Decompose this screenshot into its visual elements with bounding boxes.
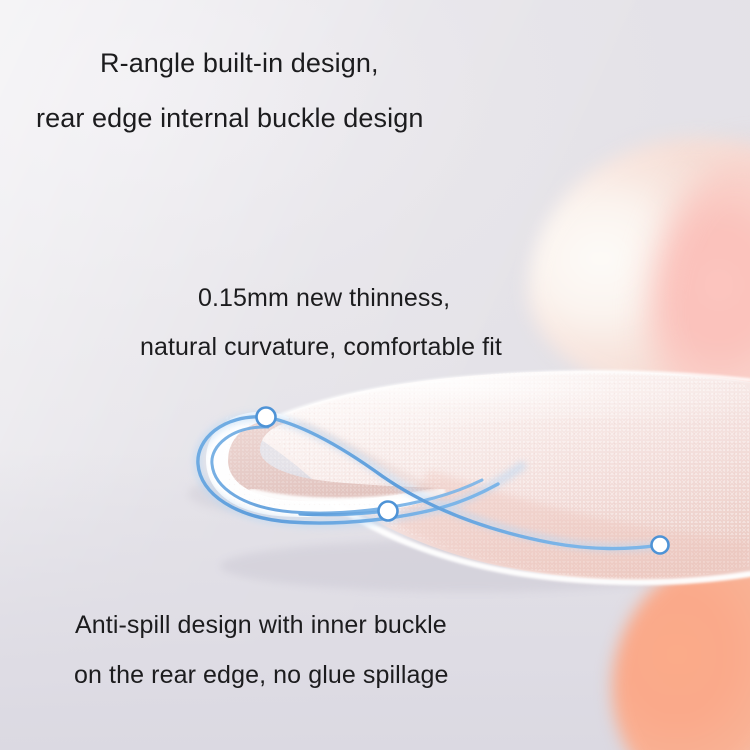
headline-line-2: rear edge internal buckle design [36, 103, 423, 134]
curl-top-marker[interactable] [257, 408, 276, 427]
film-curl-group [206, 412, 446, 517]
curl-tail-marker[interactable] [379, 502, 398, 521]
bottom-caption-line-2: on the rear edge, no glue spillage [74, 661, 449, 690]
middle-caption-line-1: 0.15mm new thinness, [198, 284, 450, 313]
headline-line-1: R-angle built-in design, [100, 48, 379, 79]
product-image-canvas: R-angle built-in design, rear edge inter… [0, 0, 750, 750]
bottom-caption-line-1: Anti-spill design with inner buckle [75, 611, 447, 640]
middle-caption-line-2: natural curvature, comfortable fit [140, 333, 502, 362]
rear-edge-marker[interactable] [652, 537, 669, 554]
